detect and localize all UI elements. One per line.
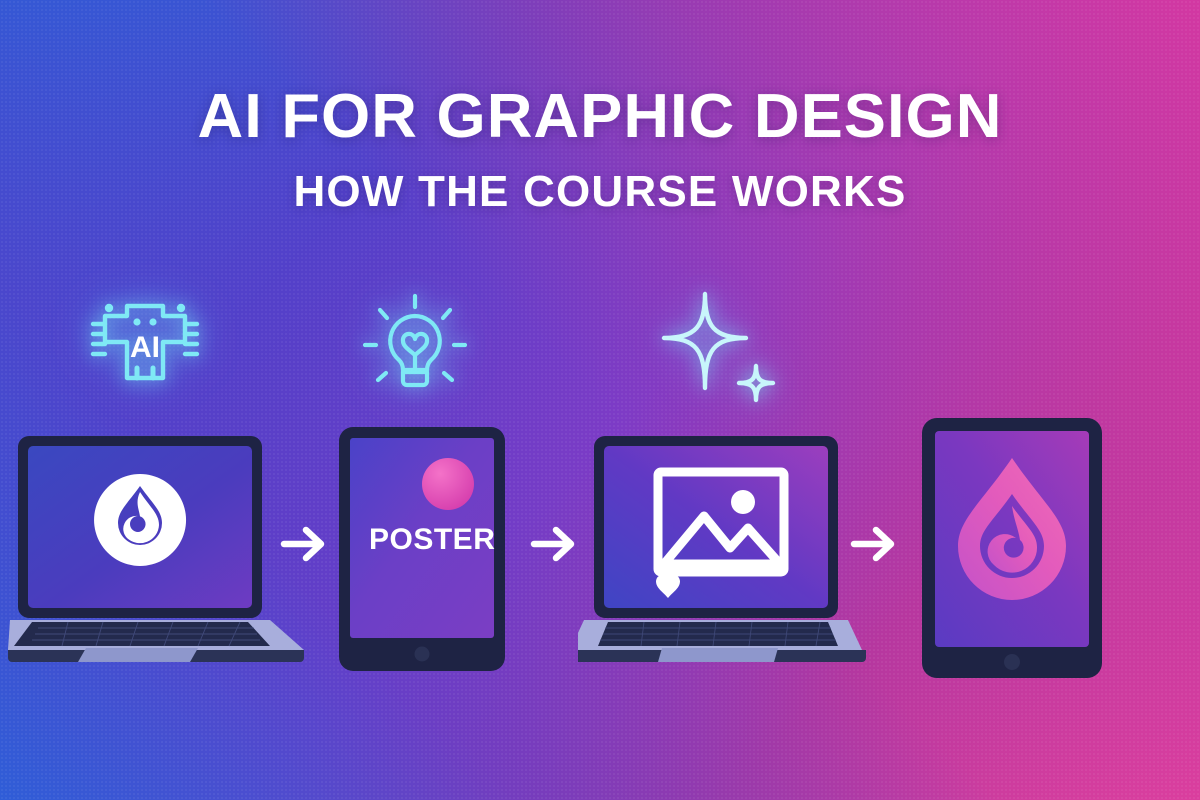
page-subtitle: HOW THE COURSE WORKS bbox=[0, 170, 1200, 214]
tablet-final-logo bbox=[918, 414, 1106, 682]
laptop-trackpad bbox=[78, 648, 198, 662]
tablet-home-button bbox=[415, 647, 430, 662]
flow-arrow-3 bbox=[848, 521, 900, 567]
poster-circle-graphic bbox=[422, 458, 474, 510]
laptop-screen bbox=[28, 446, 252, 608]
flow-arrow-2 bbox=[528, 521, 580, 567]
lightbulb-idea-icon bbox=[356, 288, 474, 406]
laptop-ai-logo bbox=[8, 432, 314, 672]
sparkle-icon bbox=[656, 288, 784, 412]
ai-chip-icon: AI bbox=[80, 282, 210, 412]
tablet-home-button bbox=[1004, 654, 1020, 670]
flow-arrow-1 bbox=[278, 521, 330, 567]
tablet-poster: POSTER bbox=[336, 424, 508, 674]
ai-chip-label: AI bbox=[130, 331, 160, 364]
poster-heading-group: AI FOR GRAPHIC DESIGN HOW THE COURSE WOR… bbox=[0, 86, 1200, 214]
page-title: AI FOR GRAPHIC DESIGN bbox=[0, 86, 1200, 148]
laptop-image-preview bbox=[578, 432, 868, 672]
laptop-trackpad bbox=[658, 648, 778, 662]
poster-screen-label: POSTER bbox=[369, 523, 495, 556]
